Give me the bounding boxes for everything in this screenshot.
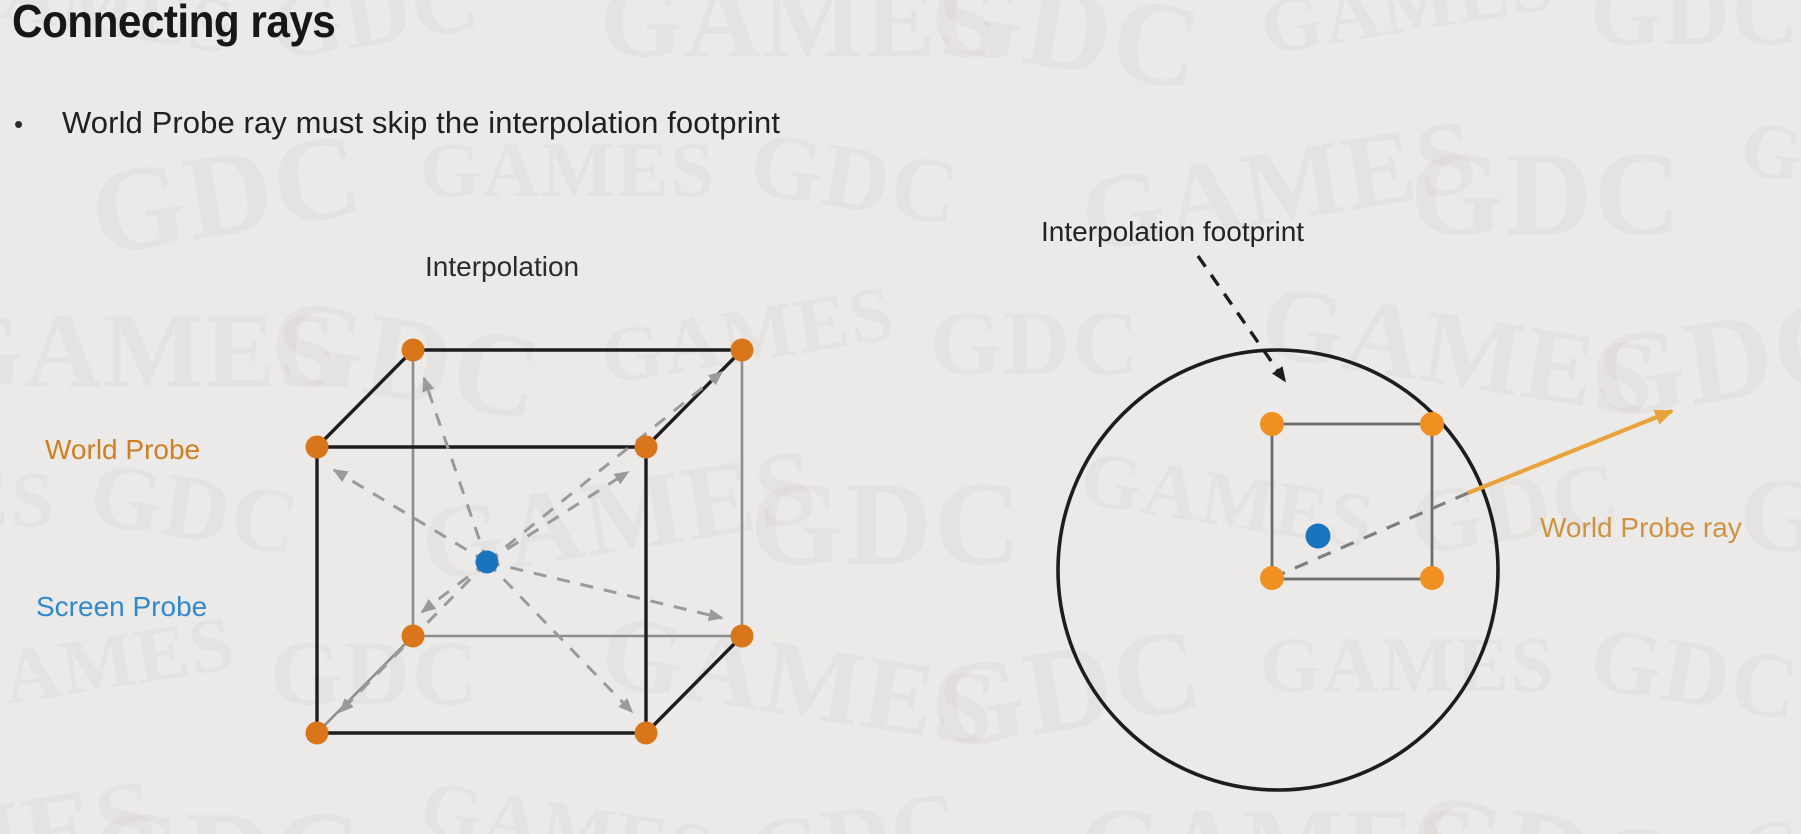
probe-dot-front-bottom-left bbox=[306, 722, 329, 745]
probe-dot-back-top-left bbox=[402, 339, 425, 362]
probe-dot-footprint-bottom-right bbox=[1420, 566, 1444, 590]
probe-dot-footprint-top-left bbox=[1260, 412, 1284, 436]
probe-dot-back-bottom-right bbox=[731, 625, 754, 648]
probe-dot-footprint-top-right bbox=[1420, 412, 1444, 436]
screen-probe-dot-footprint bbox=[1306, 524, 1331, 549]
diagrams-svg bbox=[0, 0, 1801, 834]
probe-dot-footprint-bottom-left bbox=[1260, 566, 1284, 590]
slide-canvas: Connecting rays • World Probe ray must s… bbox=[0, 0, 1801, 834]
probe-dot-front-top-left bbox=[306, 436, 329, 459]
interpolation-cube bbox=[306, 339, 754, 745]
probe-dot-back-bottom-left bbox=[402, 625, 425, 648]
probe-dot-back-top-right bbox=[731, 339, 754, 362]
cube-interpolation-rays bbox=[334, 372, 722, 712]
screen-probe-dot-cube bbox=[476, 551, 499, 574]
interpolation-footprint-circle bbox=[1058, 256, 1672, 790]
world-probe-ray-dashed-segment bbox=[1272, 493, 1468, 578]
world-probe-ray-solid-segment bbox=[1468, 411, 1672, 493]
cube-corner-probes bbox=[306, 339, 754, 745]
footprint-corner-probes bbox=[1260, 412, 1444, 590]
probe-dot-front-bottom-right bbox=[635, 722, 658, 745]
footprint-square bbox=[1272, 424, 1432, 579]
probe-dot-front-top-right bbox=[635, 436, 658, 459]
